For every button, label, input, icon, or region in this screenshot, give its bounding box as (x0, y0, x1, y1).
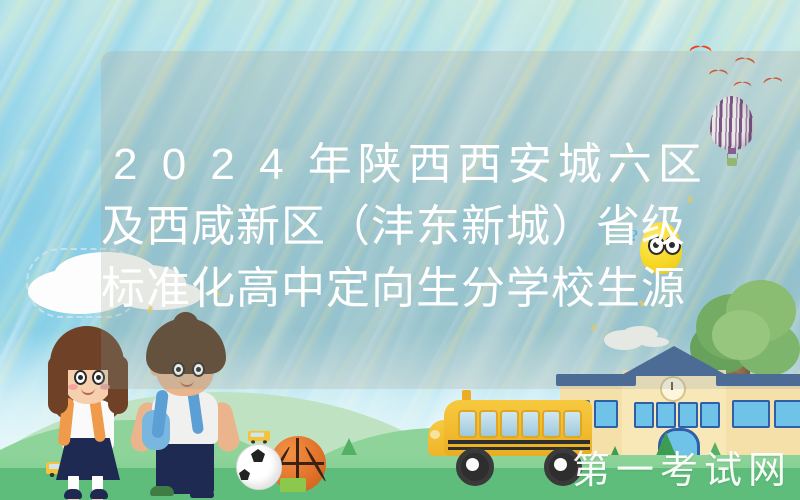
bus-window (458, 410, 477, 438)
bus-stripe (448, 440, 590, 444)
bus-window (479, 410, 498, 438)
bus-window (521, 410, 540, 438)
title-line-3: 标准化高中定向生分学校生源 (101, 258, 800, 320)
bus-wheel (456, 448, 494, 486)
cover-image: ? 2 0 2 4 年陕西西安城六区 及西咸新区（沣东新城）省级 标准化高中定向… (0, 0, 800, 500)
eye (74, 370, 87, 385)
school-window (732, 400, 770, 428)
sock (68, 476, 79, 490)
school-bus (444, 392, 592, 472)
shoe (64, 489, 82, 499)
school-window (774, 400, 800, 428)
bus-window (500, 410, 519, 438)
cheek (68, 384, 78, 390)
page-title: 2 0 2 4 年陕西西安城六区 及西咸新区（沣东新城）省级 标准化高中定向生分… (101, 51, 800, 389)
site-watermark: 第一考试网 (572, 448, 798, 494)
bus-window (563, 410, 582, 438)
bus-headlight (430, 430, 440, 439)
shoe (90, 489, 108, 499)
school-window (700, 402, 720, 428)
shoe (150, 486, 174, 496)
book-icon (280, 478, 306, 492)
sock (92, 476, 103, 490)
bus-window (542, 410, 561, 438)
title-line-1: 2 0 2 4 年陕西西安城六区 (101, 134, 800, 196)
title-line-2: 及西咸新区（沣东新城）省级 (101, 196, 800, 258)
school-window (594, 400, 618, 428)
shoe (190, 488, 214, 498)
mini-school-bus (248, 431, 270, 441)
